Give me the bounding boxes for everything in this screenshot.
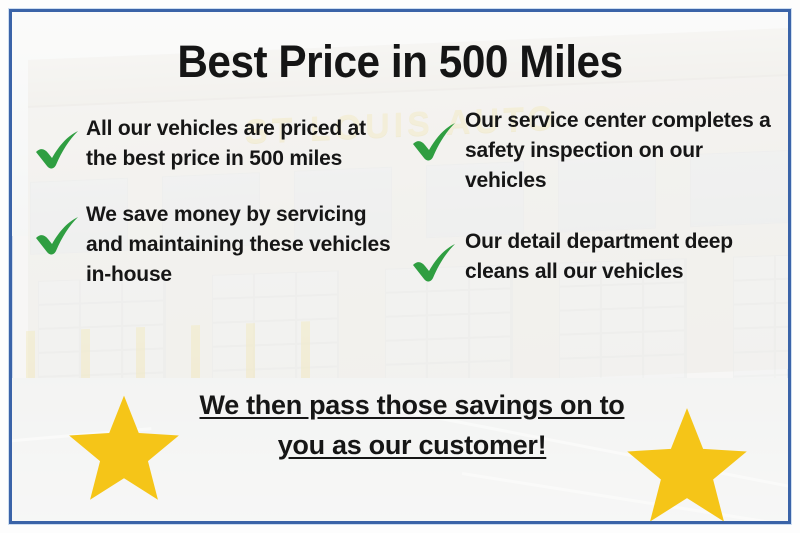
green-checkmark-icon: [407, 114, 463, 168]
benefit-item: Our detail department deep cleans all ou…: [407, 225, 778, 289]
star-icon-right: [626, 404, 748, 522]
poster-content: Best Price in 500 Miles All our vehicles…: [12, 12, 788, 521]
benefit-text: All our vehicles are priced at the best …: [86, 112, 401, 174]
benefit-item: We save money by servicing and maintaini…: [30, 198, 401, 289]
benefit-column-left: All our vehicles are priced at the best …: [30, 104, 401, 289]
promotional-poster: ST LOUIS AUTO: [0, 0, 800, 533]
green-checkmark-icon: [407, 235, 463, 289]
green-checkmark-icon: [30, 122, 86, 176]
benefit-column-right: Our service center completes a safety in…: [401, 104, 778, 289]
green-checkmark-icon: [30, 208, 86, 262]
poster-title: Best Price in 500 Miles: [35, 36, 764, 88]
benefit-text: Our detail department deep cleans all ou…: [463, 225, 778, 287]
benefit-text: Our service center completes a safety in…: [463, 104, 778, 195]
benefit-item: All our vehicles are priced at the best …: [30, 112, 401, 176]
benefit-columns: All our vehicles are priced at the best …: [30, 104, 778, 289]
benefit-text: We save money by servicing and maintaini…: [86, 198, 401, 289]
benefit-item: Our service center completes a safety in…: [407, 104, 778, 195]
poster-tagline: We then pass those savings on to you as …: [182, 386, 642, 466]
star-icon-left: [68, 392, 180, 500]
poster-frame: ST LOUIS AUTO: [9, 9, 791, 524]
